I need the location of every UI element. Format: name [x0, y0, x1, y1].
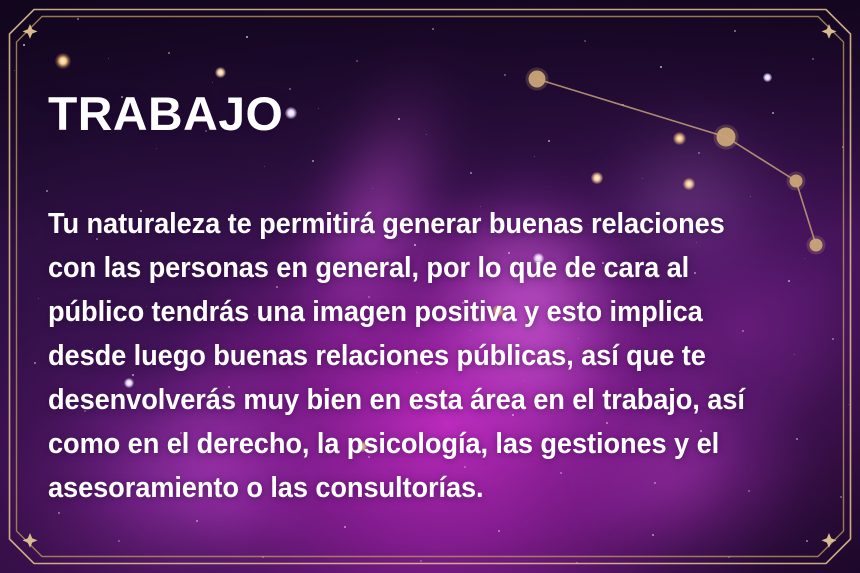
horoscope-body-text: Tu naturaleza te permitirá generar buena…	[48, 202, 776, 510]
page-title: TRABAJO	[48, 90, 283, 137]
horoscope-card: TRABAJO Tu naturaleza te permitirá gener…	[0, 0, 860, 573]
star-field-layer-3	[0, 0, 1, 1]
card-content: TRABAJO Tu naturaleza te permitirá gener…	[48, 0, 818, 573]
